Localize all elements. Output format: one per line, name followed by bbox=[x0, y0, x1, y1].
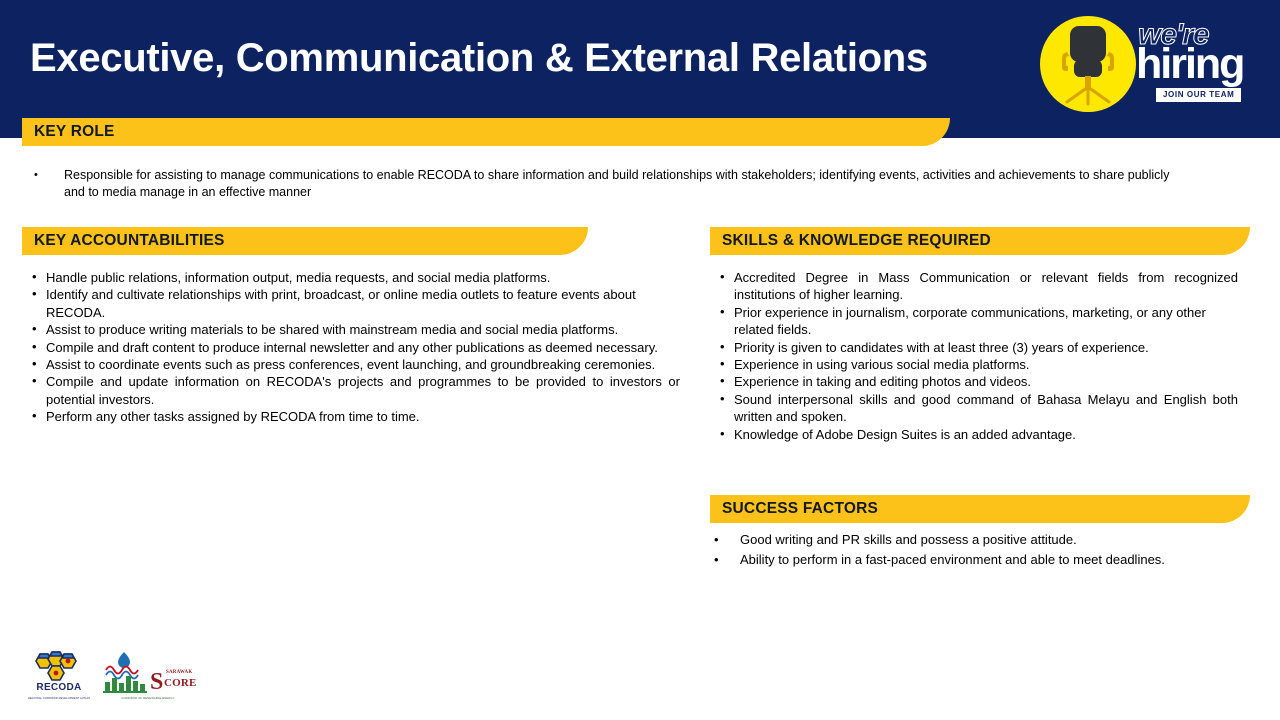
section-banner-key-accountabilities: KEY ACCOUNTABILITIES bbox=[22, 227, 560, 255]
section-heading-skills-knowledge: SKILLS & KNOWLEDGE REQUIRED bbox=[710, 232, 991, 250]
section-banner-skills-knowledge: SKILLS & KNOWLEDGE REQUIRED bbox=[710, 227, 1222, 255]
badge-text-group: we're hiring JOIN OUR TEAM bbox=[1136, 18, 1268, 112]
list-item: Handle public relations, information out… bbox=[28, 269, 680, 286]
section-heading-key-role: KEY ROLE bbox=[22, 123, 115, 141]
section-banner-success-factors: SUCCESS FACTORS bbox=[710, 495, 1222, 523]
banner-tail bbox=[1222, 495, 1250, 523]
recoda-hexagon-icon bbox=[28, 650, 90, 686]
list-item: Knowledge of Adobe Design Suites is an a… bbox=[716, 426, 1238, 443]
list-item: Priority is given to candidates with at … bbox=[716, 339, 1238, 356]
score-s-letter: S bbox=[150, 670, 163, 694]
recoda-subtext: REGIONAL CORRIDOR DEVELOPMENT AUTHORITY bbox=[28, 697, 90, 700]
badge-join-label: JOIN OUR TEAM bbox=[1156, 88, 1241, 102]
list-item: Experience in using various social media… bbox=[716, 356, 1238, 373]
score-emblem-icon bbox=[100, 650, 150, 694]
recoda-wordmark: RECODA bbox=[28, 682, 90, 693]
list-item: Perform any other tasks assigned by RECO… bbox=[28, 408, 680, 425]
list-item: Experience in taking and editing photos … bbox=[716, 373, 1238, 390]
recoda-logo: RECODA REGIONAL CORRIDOR DEVELOPMENT AUT… bbox=[28, 650, 90, 700]
bullet-list-skills-knowledge: Accredited Degree in Mass Communication … bbox=[716, 269, 1238, 443]
section-heading-key-accountabilities: KEY ACCOUNTABILITIES bbox=[22, 232, 225, 250]
page-title: Executive, Communication & External Rela… bbox=[30, 36, 928, 81]
score-logo: SARAWAK S CORE CORRIDOR OF RENEWABLE ENE… bbox=[100, 650, 196, 700]
list-item: Assist to produce writing materials to b… bbox=[28, 321, 680, 338]
banner-tail bbox=[560, 227, 588, 255]
list-item: Prior experience in journalism, corporat… bbox=[716, 304, 1238, 339]
list-item: Responsible for assisting to manage comm… bbox=[28, 167, 1178, 201]
banner-tail bbox=[1222, 227, 1250, 255]
score-subtext: CORRIDOR OF RENEWABLE ENERGY bbox=[100, 696, 196, 700]
bullet-list-success-factors: Good writing and PR skills and possess a… bbox=[710, 531, 1238, 570]
list-item: Sound interpersonal skills and good comm… bbox=[716, 391, 1238, 426]
office-chair-icon bbox=[1054, 24, 1122, 106]
list-item: Compile and update information on RECODA… bbox=[28, 373, 680, 408]
footer-logos: RECODA REGIONAL CORRIDOR DEVELOPMENT AUT… bbox=[28, 650, 198, 702]
list-item: Assist to coordinate events such as pres… bbox=[28, 356, 680, 373]
score-core-label: CORE bbox=[164, 678, 197, 689]
list-item: Compile and draft content to produce int… bbox=[28, 339, 680, 356]
badge-hiring-label: hiring bbox=[1136, 42, 1243, 87]
bullet-list-key-role: Responsible for assisting to manage comm… bbox=[28, 167, 1178, 202]
list-item: Accredited Degree in Mass Communication … bbox=[716, 269, 1238, 304]
section-banner-key-role: KEY ROLE bbox=[22, 118, 922, 146]
were-hiring-badge: we're hiring JOIN OUR TEAM bbox=[1040, 16, 1268, 112]
list-item: Ability to perform in a fast-paced envir… bbox=[710, 551, 1238, 570]
banner-tail bbox=[922, 118, 950, 146]
score-sarawak-label: SARAWAK bbox=[166, 670, 192, 676]
section-heading-success-factors: SUCCESS FACTORS bbox=[710, 500, 878, 518]
list-item: Good writing and PR skills and possess a… bbox=[710, 531, 1238, 550]
list-item: Identify and cultivate relationships wit… bbox=[28, 286, 680, 321]
bullet-list-key-accountabilities: Handle public relations, information out… bbox=[28, 269, 680, 426]
